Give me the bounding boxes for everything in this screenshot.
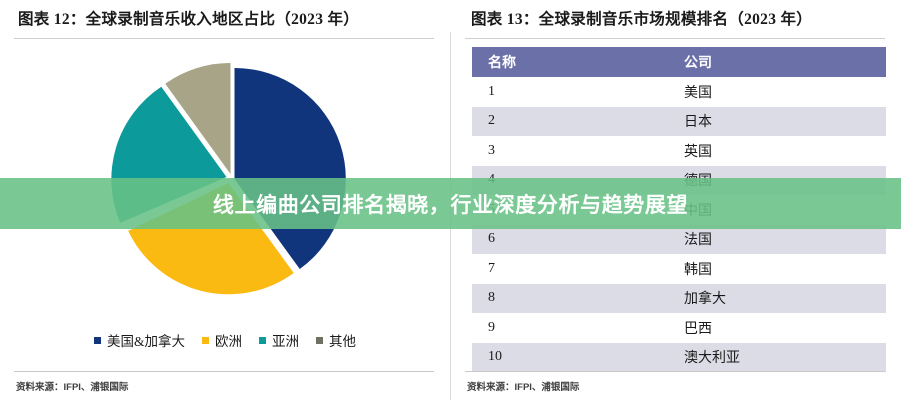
- exhibit-13-title-rule: [465, 38, 885, 39]
- cell-country: 加拿大: [658, 284, 886, 314]
- exhibit-12-title-rule: [14, 38, 434, 39]
- legend-swatch-icon-us-canada: [94, 337, 101, 344]
- cell-rank: 3: [472, 136, 658, 166]
- column-header-company: 公司: [658, 47, 886, 77]
- cell-rank: 9: [472, 313, 658, 343]
- overlay-banner: 线上编曲公司排名揭晓，行业深度分析与趋势展望: [0, 178, 901, 229]
- cell-rank: 7: [472, 254, 658, 284]
- table-row: 3 英国: [472, 136, 886, 166]
- table-row: 10 澳大利亚: [472, 343, 886, 373]
- cell-country: 韩国: [658, 254, 886, 284]
- exhibit-13-source-note: 资料来源：IFPI、浦银国际: [467, 379, 579, 393]
- table-row: 7 韩国: [472, 254, 886, 284]
- exhibit-12-title: 图表 12：全球录制音乐收入地区占比（2023 年）: [18, 7, 359, 29]
- table-row: 9 巴西: [472, 313, 886, 343]
- legend-item-us-canada: 美国&加拿大: [94, 330, 185, 350]
- column-header-rank: 名称: [472, 47, 658, 77]
- legend-label-others: 其他: [329, 330, 356, 350]
- legend-label-us-canada: 美国&加拿大: [107, 330, 185, 350]
- legend-swatch-icon-asia: [259, 337, 266, 344]
- table-row: 1 美国: [472, 77, 886, 107]
- pie-legend: 美国&加拿大 欧洲 亚洲 其他: [0, 330, 450, 350]
- legend-label-europe: 欧洲: [215, 330, 242, 350]
- cell-rank: 2: [472, 107, 658, 137]
- overlay-banner-text: 线上编曲公司排名揭晓，行业深度分析与趋势展望: [213, 189, 688, 219]
- exhibit-13-source-rule: [465, 371, 885, 372]
- legend-label-asia: 亚洲: [272, 330, 299, 350]
- table-row: 8 加拿大: [472, 284, 886, 314]
- cell-rank: 1: [472, 77, 658, 107]
- legend-item-europe: 欧洲: [202, 330, 242, 350]
- cell-country: 巴西: [658, 313, 886, 343]
- cell-rank: 8: [472, 284, 658, 314]
- table-header-row: 名称 公司: [472, 47, 886, 77]
- cell-rank: 10: [472, 343, 658, 373]
- exhibit-12-source-rule: [14, 371, 434, 372]
- table-row: 2 日本: [472, 107, 886, 137]
- legend-item-asia: 亚洲: [259, 330, 299, 350]
- exhibit-page: 图表 12：全球录制音乐收入地区占比（2023 年） 美国&加拿大: [0, 0, 901, 400]
- legend-item-others: 其他: [316, 330, 356, 350]
- cell-country: 澳大利亚: [658, 343, 886, 373]
- legend-swatch-icon-europe: [202, 337, 209, 344]
- exhibit-13-title: 图表 13：全球录制音乐市场规模排名（2023 年）: [471, 7, 812, 29]
- cell-country: 英国: [658, 136, 886, 166]
- cell-country: 日本: [658, 107, 886, 137]
- exhibit-12-source-note: 资料来源：IFPI、浦银国际: [16, 379, 128, 393]
- cell-country: 美国: [658, 77, 886, 107]
- legend-swatch-icon-others: [316, 337, 323, 344]
